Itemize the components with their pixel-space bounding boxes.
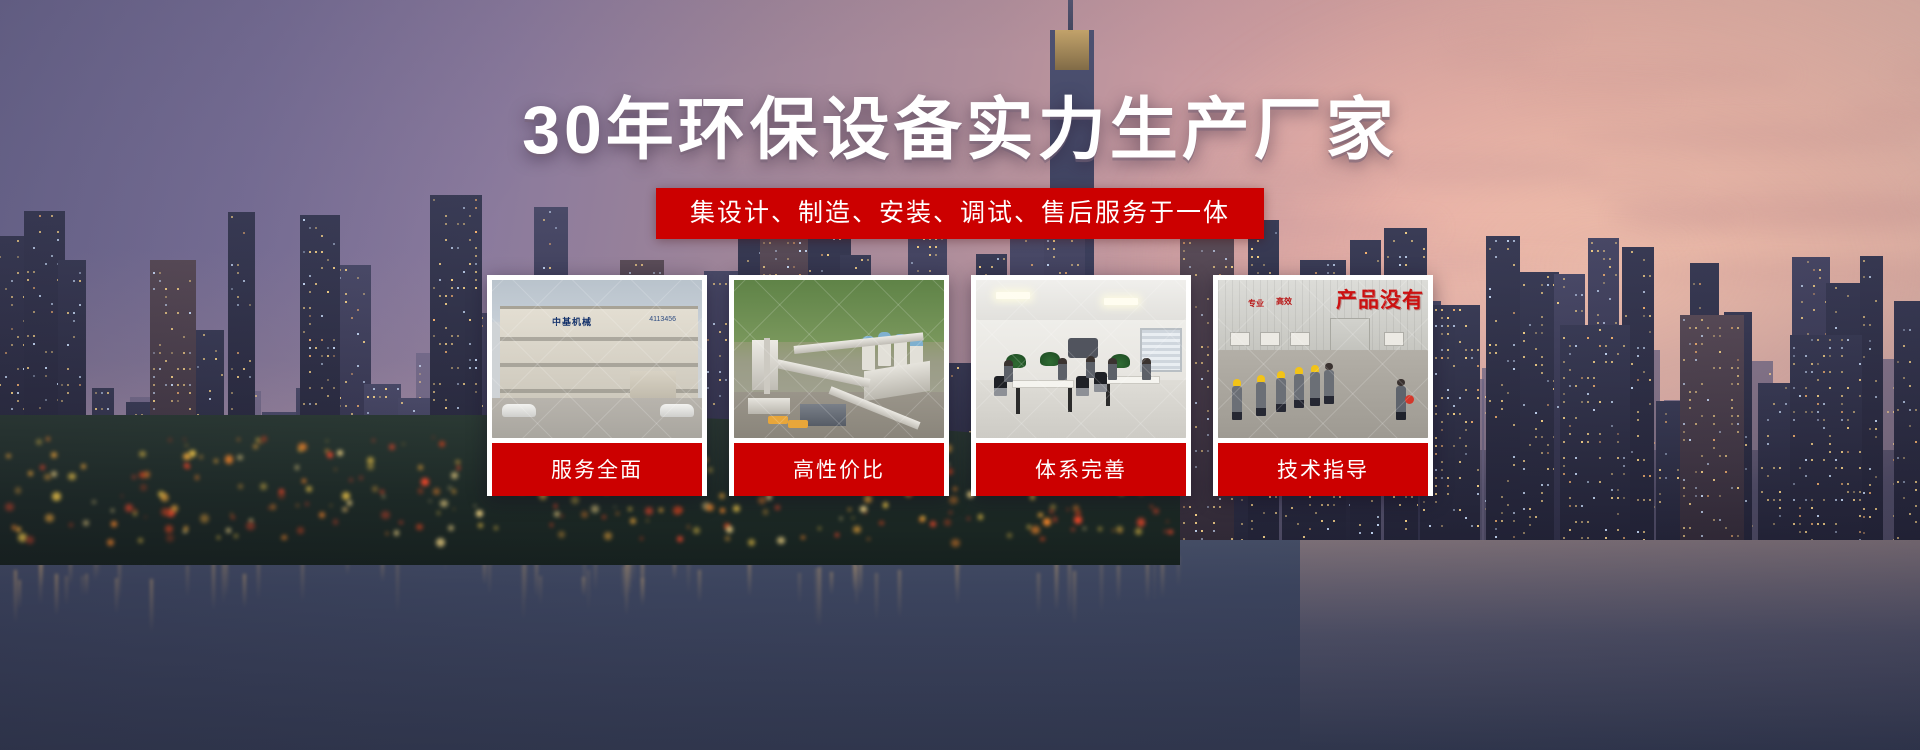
ceiling-light xyxy=(996,292,1030,299)
factory-slogan-2: 高效 xyxy=(1276,296,1292,307)
employee xyxy=(1086,356,1095,378)
desk-leg xyxy=(1068,388,1072,412)
factory-slogan-1: 专业 xyxy=(1248,298,1264,309)
feature-card[interactable]: 体系完善 xyxy=(971,275,1191,496)
ceiling-light xyxy=(1104,298,1138,305)
feature-card-list: 中基机械 4113456 服务全面 xyxy=(487,275,1433,496)
card-label: 服务全面 xyxy=(492,443,702,496)
worker xyxy=(1256,382,1266,416)
building-phone-number: 4113456 xyxy=(649,316,676,323)
parked-car xyxy=(660,404,694,417)
supervisor xyxy=(1396,386,1406,420)
building-facade: 中基机械 4113456 xyxy=(500,306,698,402)
banner-subtitle-bar: 集设计、制造、安装、调试、售后服务于一体 xyxy=(656,188,1264,239)
banner-headline: 30年环保设备实力生产厂家 xyxy=(522,96,1398,164)
potted-plant xyxy=(1040,352,1060,366)
worker xyxy=(1276,378,1286,412)
hero-banner: 30年环保设备实力生产厂家 集设计、制造、安装、调试、售后服务于一体 中基机械 … xyxy=(0,0,1920,750)
process-tower xyxy=(764,338,770,394)
card-label: 高性价比 xyxy=(734,443,944,496)
office-ceiling xyxy=(976,280,1186,320)
office-chair xyxy=(1076,376,1089,396)
worker xyxy=(1324,370,1334,404)
feature-card[interactable]: 产品没有 专业 高效 xyxy=(1213,275,1433,496)
factory-window xyxy=(1260,332,1280,346)
yellow-loader xyxy=(768,416,788,424)
card-photo-factory-workers: 产品没有 专业 高效 xyxy=(1218,280,1428,438)
feature-card[interactable]: 中基机械 4113456 服务全面 xyxy=(487,275,707,496)
employee xyxy=(1058,358,1067,380)
wall-logo xyxy=(1068,338,1098,358)
desk-leg xyxy=(1016,388,1020,414)
card-label: 技术指导 xyxy=(1218,443,1428,496)
employee xyxy=(1004,360,1013,382)
card-photo-office-building: 中基机械 4113456 xyxy=(492,280,702,438)
feature-card[interactable]: 高性价比 xyxy=(729,275,949,496)
factory-window xyxy=(1230,332,1250,346)
parked-car xyxy=(502,404,536,417)
red-helmet xyxy=(1405,395,1414,404)
employee xyxy=(1108,358,1117,380)
card-photo-office-interior xyxy=(976,280,1186,438)
yellow-loader xyxy=(788,420,808,428)
factory-banner-text: 产品没有 xyxy=(1336,284,1424,314)
desk-surface xyxy=(1012,380,1074,388)
plant-shed xyxy=(748,398,790,414)
worker xyxy=(1232,386,1242,420)
employee xyxy=(1142,358,1151,380)
banner-content: 30年环保设备实力生产厂家 集设计、制造、安装、调试、售后服务于一体 中基机械 … xyxy=(0,0,1920,750)
factory-window xyxy=(1384,332,1404,346)
worker xyxy=(1294,374,1304,408)
factory-window xyxy=(1290,332,1310,346)
worker xyxy=(1310,372,1320,406)
building-sign-label: 中基机械 xyxy=(552,315,592,328)
office-chair xyxy=(1094,372,1107,392)
card-label: 体系完善 xyxy=(976,443,1186,496)
card-photo-industrial-plant xyxy=(734,280,944,438)
